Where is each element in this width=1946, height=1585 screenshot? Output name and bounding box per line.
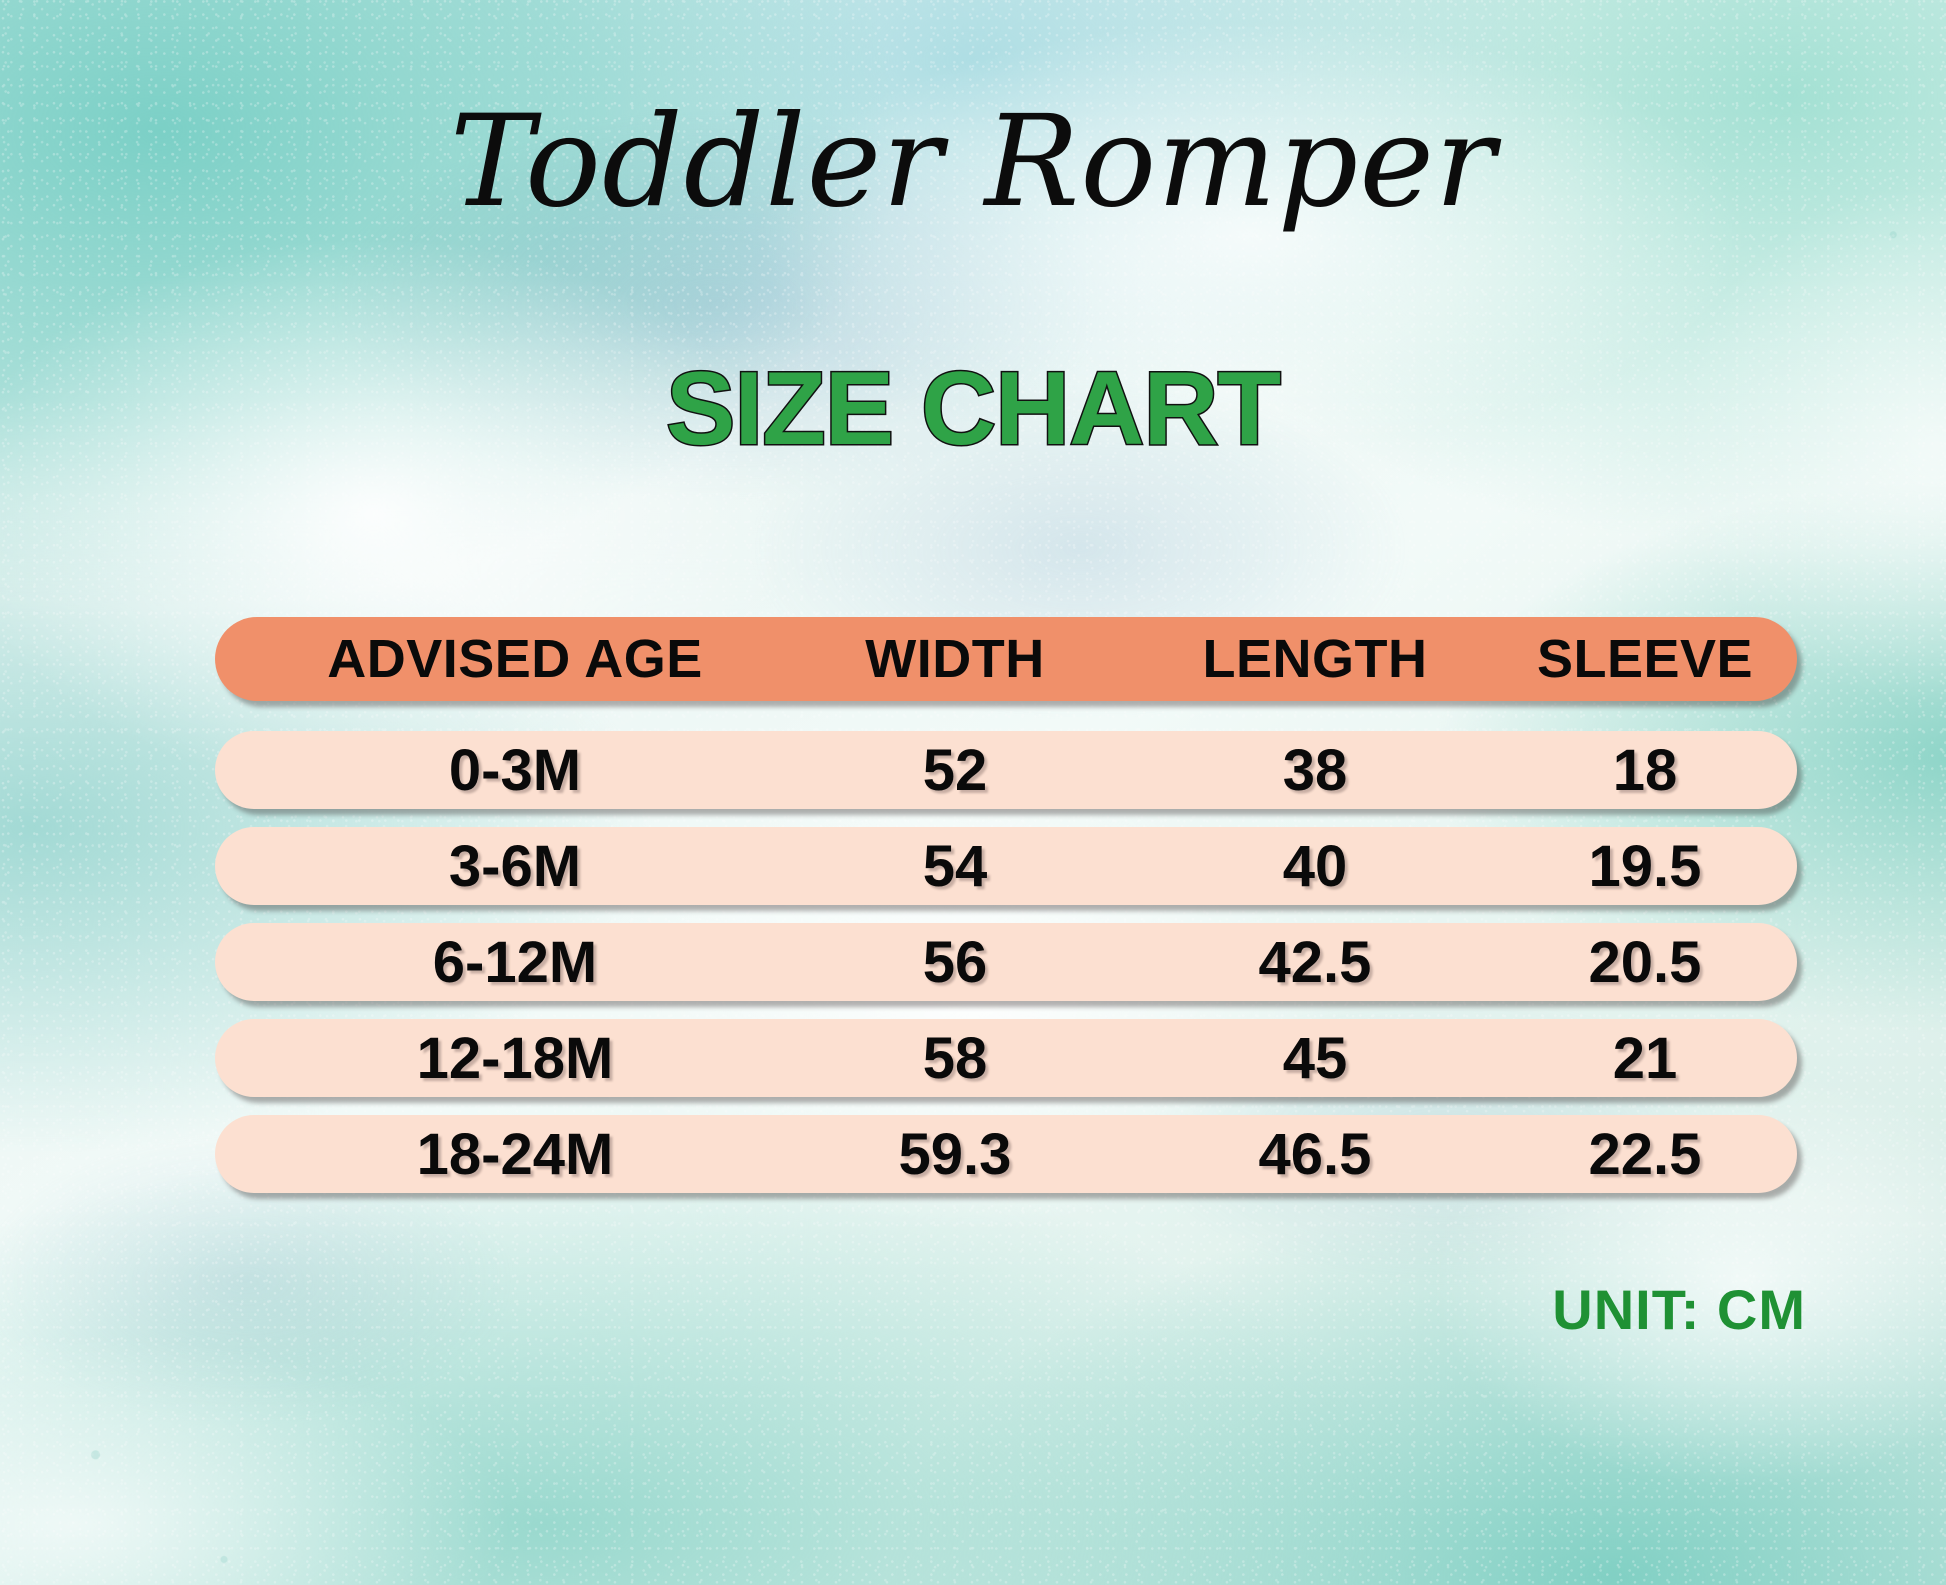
cell-advised-age: 3-6M (255, 833, 775, 900)
cell-length: 45 (1135, 1025, 1495, 1092)
page-subtitle: SIZE CHART (0, 357, 1946, 461)
table-row: 3-6M 54 40 19.5 (215, 827, 1797, 905)
cell-width: 56 (775, 929, 1135, 996)
cell-length: 42.5 (1135, 929, 1495, 996)
table-row: 6-12M 56 42.5 20.5 (215, 923, 1797, 1001)
unit-note: UNIT: CM (1552, 1277, 1806, 1342)
cell-sleeve: 21 (1495, 1025, 1795, 1092)
cell-length: 40 (1135, 833, 1495, 900)
table-row: 18-24M 59.3 46.5 22.5 (215, 1115, 1797, 1193)
table-header-row: ADVISED AGE WIDTH LENGTH SLEEVE (215, 617, 1797, 701)
column-header-sleeve: SLEEVE (1495, 628, 1795, 690)
cell-sleeve: 19.5 (1495, 833, 1795, 900)
cell-width: 54 (775, 833, 1135, 900)
cell-width: 52 (775, 737, 1135, 804)
cell-advised-age: 18-24M (255, 1121, 775, 1188)
cell-advised-age: 0-3M (255, 737, 775, 804)
column-header-advised-age: ADVISED AGE (255, 628, 775, 690)
cell-advised-age: 6-12M (255, 929, 775, 996)
cell-sleeve: 18 (1495, 737, 1795, 804)
size-chart-table: ADVISED AGE WIDTH LENGTH SLEEVE 0-3M 52 … (215, 617, 1797, 1211)
cell-length: 38 (1135, 737, 1495, 804)
cell-sleeve: 22.5 (1495, 1121, 1795, 1188)
cell-width: 58 (775, 1025, 1135, 1092)
cell-width: 59.3 (775, 1121, 1135, 1188)
poster-content: Toddler Romper SIZE CHART ADVISED AGE WI… (0, 0, 1946, 1585)
cell-length: 46.5 (1135, 1121, 1495, 1188)
cell-sleeve: 20.5 (1495, 929, 1795, 996)
cell-advised-age: 12-18M (255, 1025, 775, 1092)
table-row: 0-3M 52 38 18 (215, 731, 1797, 809)
column-header-length: LENGTH (1135, 628, 1495, 690)
table-row: 12-18M 58 45 21 (215, 1019, 1797, 1097)
column-header-width: WIDTH (775, 628, 1135, 690)
page-title: Toddler Romper (0, 96, 1946, 228)
